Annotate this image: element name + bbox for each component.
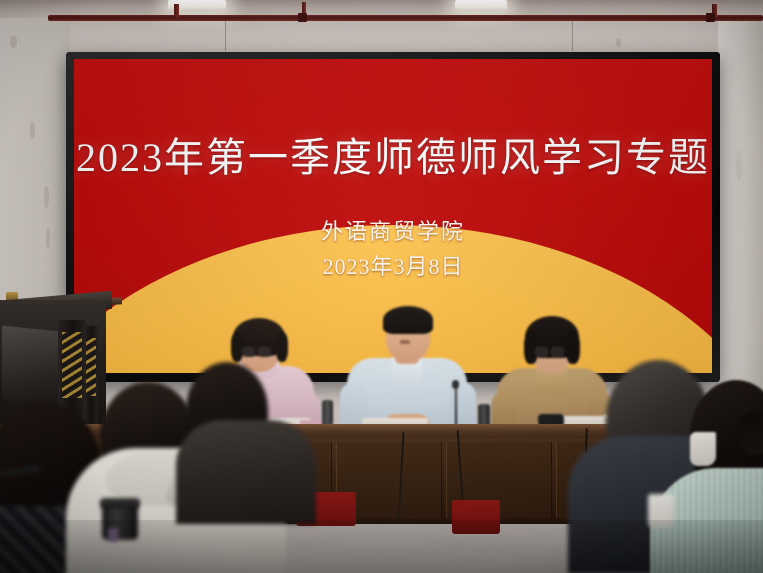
- paper-cup[interactable]: [648, 494, 674, 528]
- thermos: [322, 400, 333, 426]
- person-hair-side: [231, 332, 243, 362]
- wall-mark: [30, 122, 35, 138]
- microphone-stand: [455, 386, 457, 428]
- banner-subtitle-organization: 外语商贸学院: [74, 214, 712, 246]
- banner-subtitle-date: 2023年3月8日: [74, 249, 712, 281]
- wall-mark: [736, 150, 742, 180]
- thermos-label: [108, 528, 118, 542]
- chair: [452, 500, 500, 534]
- face-mask: [690, 432, 716, 466]
- wall-mark: [44, 186, 49, 208]
- person-hair: [383, 306, 433, 334]
- pipe-joint: [706, 13, 715, 22]
- ceiling-hanger: [572, 21, 573, 51]
- person-hair-side: [276, 332, 288, 362]
- person-hair-bun: [738, 412, 763, 454]
- pipe-drop: [174, 4, 179, 18]
- speaker-grille: [62, 332, 82, 398]
- glasses-icon: [551, 347, 564, 357]
- microphone-icon: [452, 380, 459, 389]
- wall-mark: [10, 36, 17, 48]
- glasses-icon: [258, 347, 271, 357]
- ceiling-pipe: [48, 15, 763, 21]
- wall-mark: [616, 38, 621, 47]
- ceiling-hanger: [225, 21, 226, 51]
- pipe-joint: [298, 13, 307, 22]
- conference-room-screenshot: 2023年第一季度师德师风学习专题 外语商贸学院 2023年3月8日: [0, 0, 763, 573]
- wall-mark: [46, 228, 50, 248]
- speaker-grille: [86, 338, 96, 396]
- banner-title: 2023年第一季度师德师风学习专题: [74, 125, 712, 183]
- person-mouth: [400, 340, 410, 344]
- person-body: [176, 420, 316, 524]
- glasses-icon: [535, 347, 548, 357]
- ceiling-light: [455, 0, 507, 11]
- thermos-lid: [100, 498, 140, 508]
- wall-left-section: [0, 0, 70, 330]
- glasses-icon: [242, 347, 255, 357]
- person-hair-side: [566, 332, 580, 364]
